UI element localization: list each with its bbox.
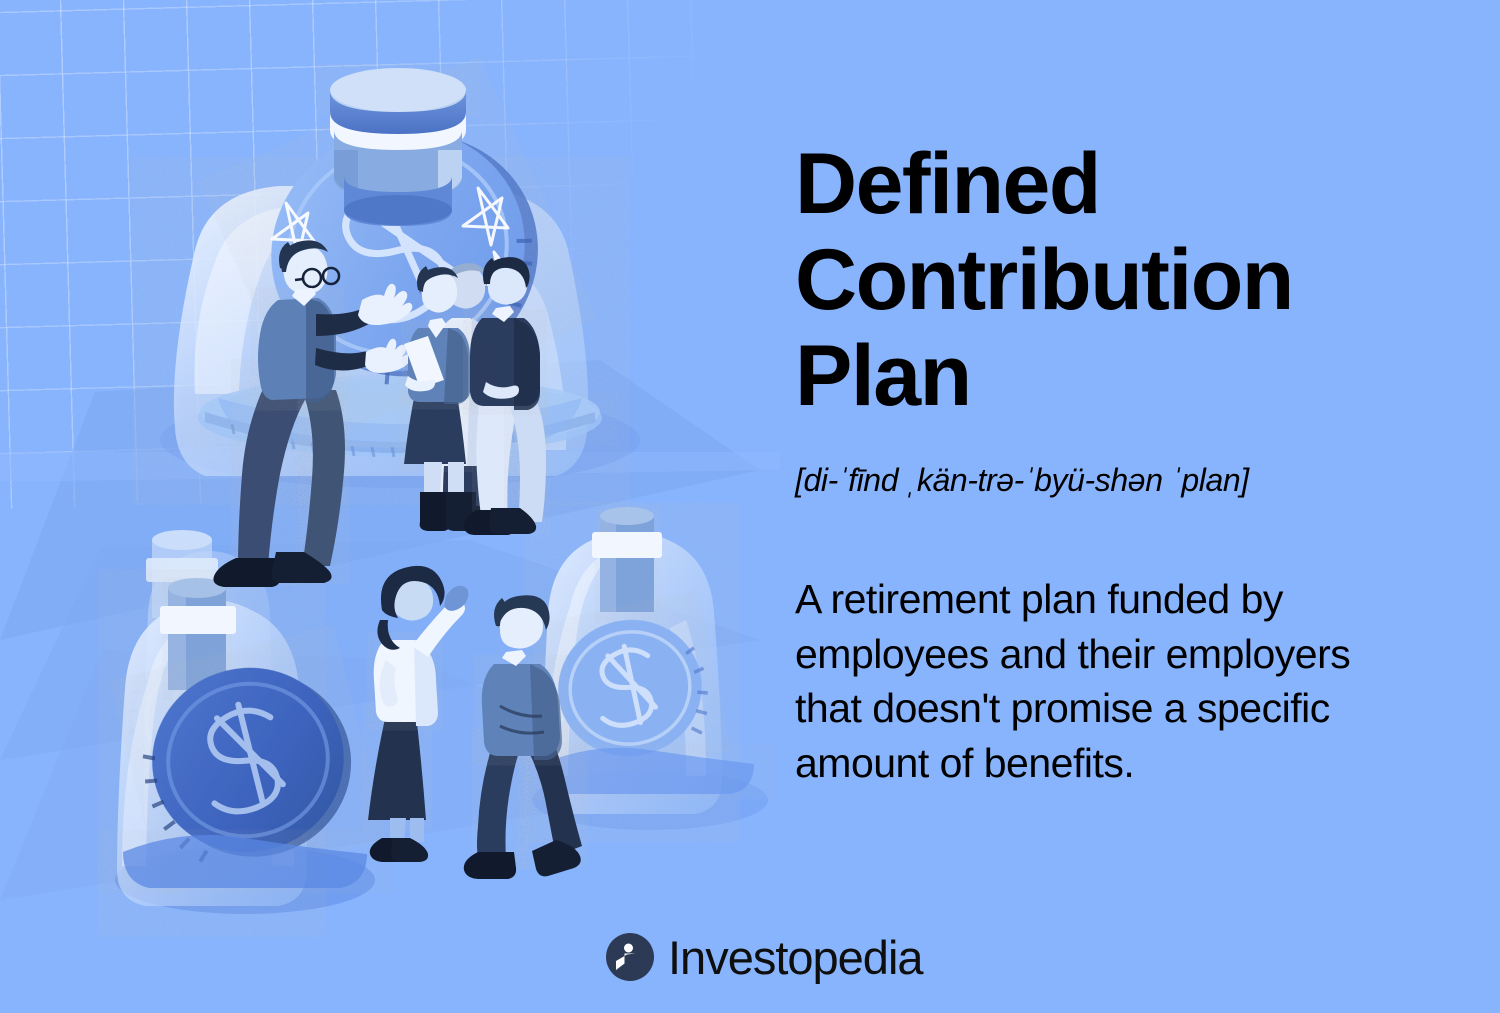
illustration	[0, 0, 780, 1013]
title-line-1: Defined	[795, 136, 1100, 232]
definition-text: A retirement plan funded by employees an…	[795, 572, 1420, 790]
investopedia-wordmark: Investopedia	[668, 934, 923, 981]
page-title: Defined Contribution Plan	[795, 136, 1435, 425]
investopedia-logo[interactable]: Investopedia	[605, 932, 923, 982]
investopedia-i-bolt-icon	[605, 932, 655, 982]
bottle-right	[532, 507, 768, 830]
pronunciation-text: [di-ˈfīnd ˌkän-trə-ˈbyü-shən ˈplan]	[795, 462, 1435, 499]
hero-jar-lid	[330, 68, 466, 226]
definition-panel: Defined Contribution Plan [di-ˈfīnd ˌkän…	[795, 0, 1435, 1013]
title-line-3: Plan	[795, 328, 971, 424]
infographic-canvas: Defined Contribution Plan [di-ˈfīnd ˌkän…	[0, 0, 1500, 1013]
title-line-2: Contribution	[795, 232, 1293, 328]
